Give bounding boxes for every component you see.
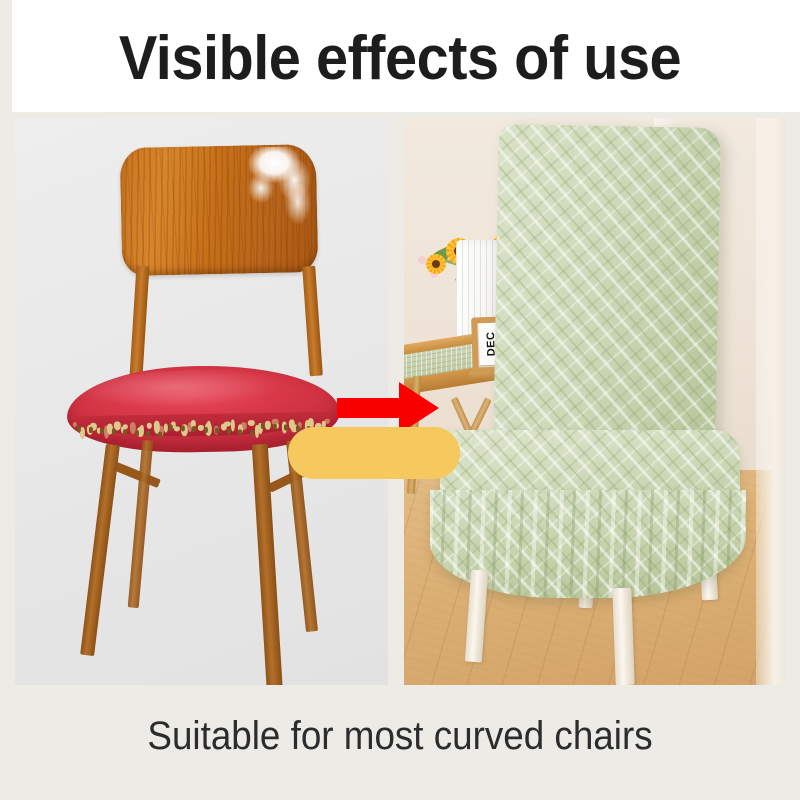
fray-shadow (123, 429, 127, 435)
fray-shadow (203, 427, 207, 433)
fray-tuft (231, 419, 235, 431)
filler-bloom (418, 256, 426, 264)
product-comparison-graphic: Visible effects of use (0, 0, 800, 800)
before-photo-panel (15, 118, 388, 685)
fray-tuft (325, 419, 330, 424)
fray-shadow (88, 427, 92, 433)
fray-tuft (197, 425, 203, 431)
fray-tuft (224, 421, 231, 426)
fray-shadow (111, 429, 115, 435)
fray-shadow (134, 430, 138, 436)
fray-shadow (272, 424, 276, 430)
page-caption: Suitable for most curved chairs (32, 712, 768, 760)
fray-shadow (192, 426, 196, 432)
sunflower (426, 254, 446, 274)
fray-shadow (169, 425, 173, 431)
backrest-worn-patch-secondary (280, 184, 315, 237)
fray-shadow (249, 430, 253, 436)
wall-right-strip (756, 118, 786, 685)
fray-tuft (241, 422, 247, 430)
jacquard-pattern (493, 124, 721, 458)
fray-tuft (147, 423, 152, 429)
fray-shadow (100, 428, 104, 434)
fray-tuft (164, 424, 168, 433)
fray-tuft (265, 421, 271, 430)
fray-shadow (261, 423, 265, 429)
slipcover-backrest (493, 124, 721, 458)
fray-shadow (226, 429, 230, 435)
highlight-pill (288, 427, 460, 479)
fray-shadow (238, 429, 242, 435)
fray-shadow (215, 428, 219, 434)
after-photo-panel: DEC 1 8 (404, 118, 786, 685)
fray-shadow (146, 431, 150, 437)
fray-tuft (174, 426, 180, 431)
fray-tuft (248, 420, 255, 426)
covered-chair-leg-front-right (612, 588, 634, 685)
fray-shadow (77, 426, 81, 432)
chair-backrest-wood (120, 144, 319, 276)
page-title: Visible effects of use (28, 24, 772, 94)
fray-shadow (284, 425, 288, 431)
fray-shadow (157, 432, 161, 438)
fray-shadow (180, 425, 184, 431)
